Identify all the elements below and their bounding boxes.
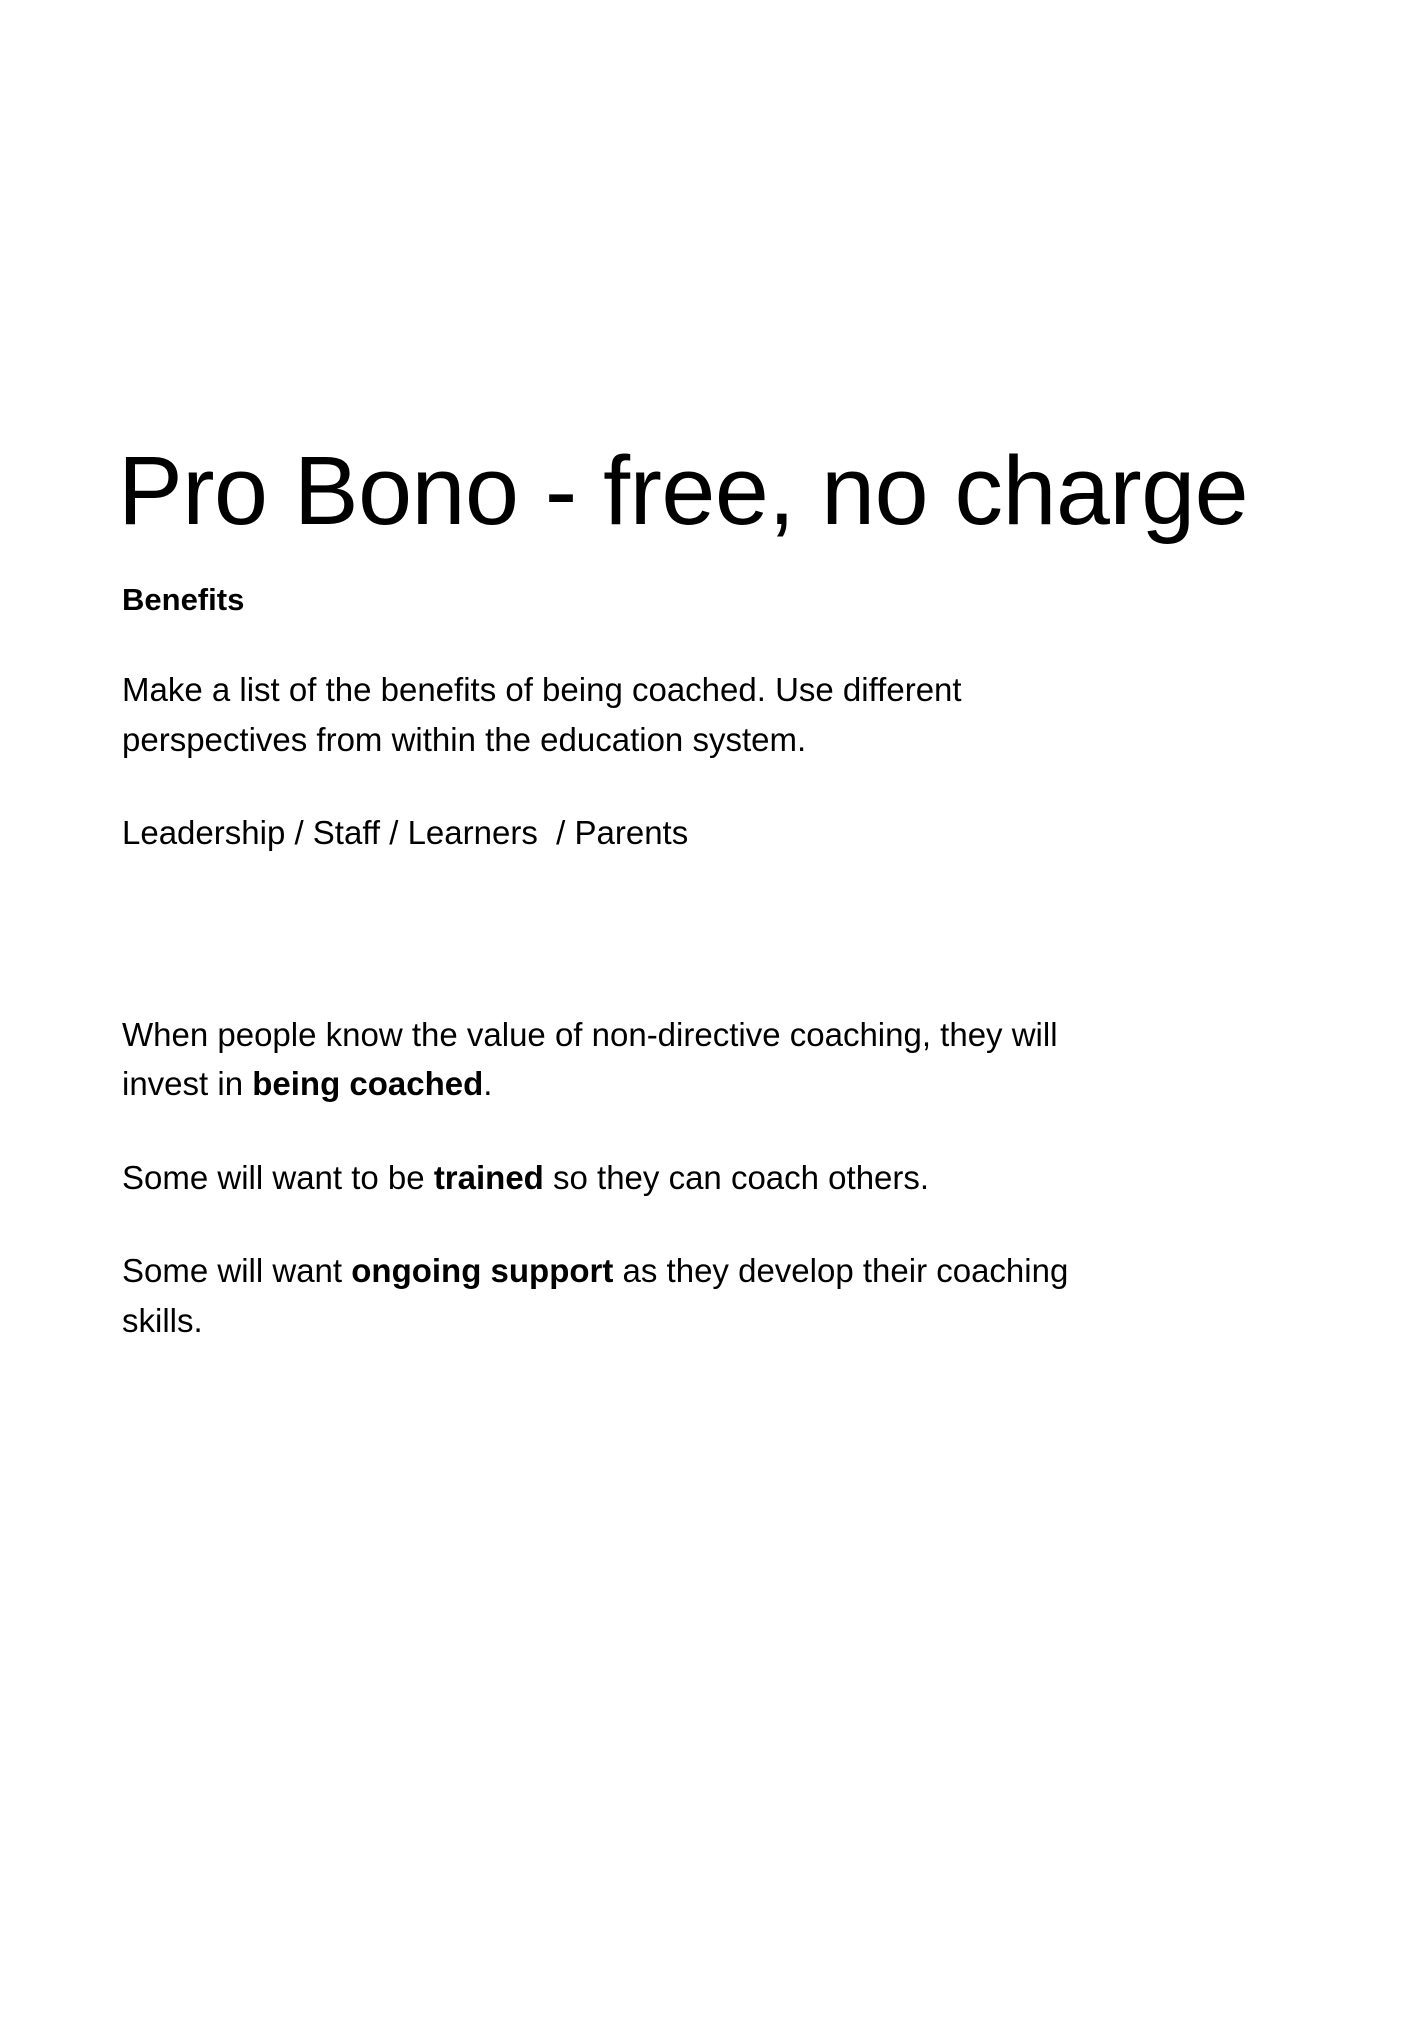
- slide-canvas: Pro Bono - free, no charge Benefits Make…: [0, 0, 1428, 2018]
- section-heading-benefits: Benefits: [122, 578, 1302, 621]
- body-spacer: [122, 902, 1302, 1010]
- paragraph-ongoing-support: Some will want ongoing support as they d…: [122, 1246, 1102, 1345]
- paragraph-trained-intro-text: Some will want to be: [122, 1159, 434, 1196]
- paragraph-value-of-coaching: When people know the value of non-direct…: [122, 1010, 1102, 1109]
- page-title: Pro Bono - free, no charge: [118, 439, 1428, 544]
- emphasis-ongoing-support: ongoing support: [351, 1252, 613, 1289]
- paragraph-support-intro-text: Some will want: [122, 1252, 351, 1289]
- paragraph-trained-tail-text: so they can coach others.: [544, 1159, 929, 1196]
- slide-body: Benefits Make a list of the benefits of …: [122, 578, 1302, 1345]
- paragraph-perspectives: Leadership / Staff / Learners / Parents: [122, 808, 1102, 858]
- emphasis-being-coached: being coached: [252, 1065, 483, 1102]
- paragraph-make-a-list: Make a list of the benefits of being coa…: [122, 665, 1102, 764]
- paragraph-value-tail-text: .: [483, 1065, 492, 1102]
- emphasis-trained: trained: [434, 1159, 544, 1196]
- paragraph-trained: Some will want to be trained so they can…: [122, 1153, 1102, 1203]
